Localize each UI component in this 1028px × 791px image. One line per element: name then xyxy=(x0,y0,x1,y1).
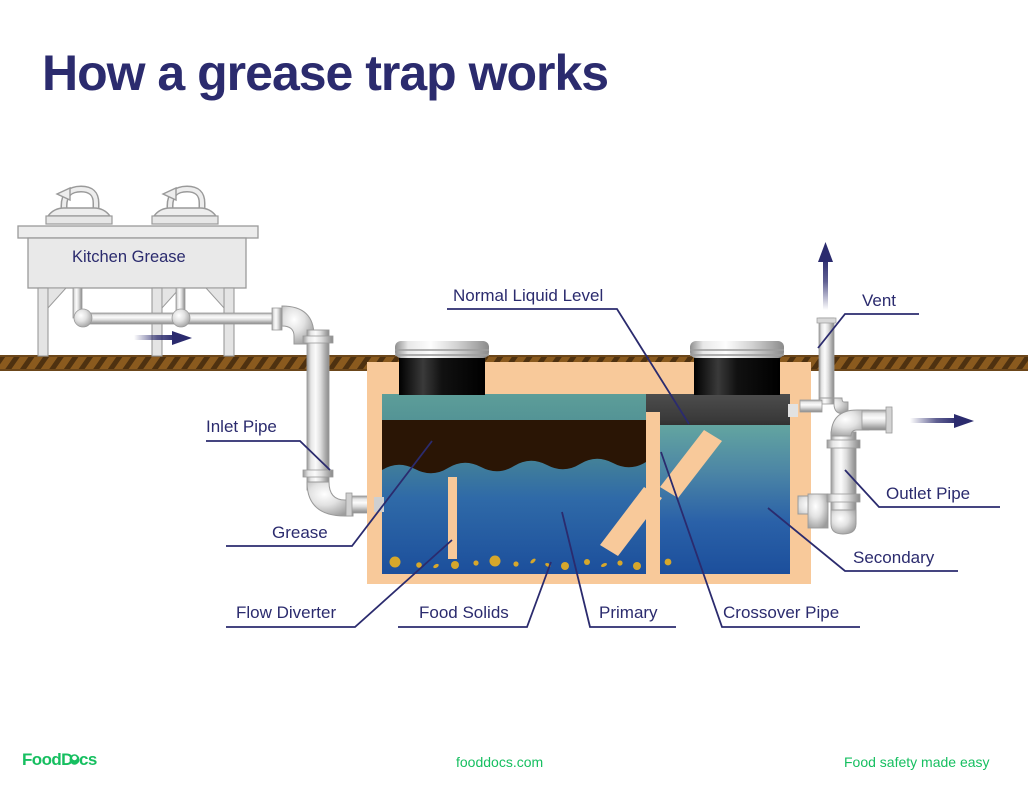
flow-arrow-inlet xyxy=(134,331,192,345)
manhole-riser-secondary xyxy=(690,341,784,395)
label-primary: Primary xyxy=(599,604,658,621)
manhole-riser-primary xyxy=(395,341,489,395)
svg-text:FoodD: FoodD xyxy=(22,750,73,769)
flow-diverter xyxy=(448,477,457,559)
inlet-pipe xyxy=(282,306,374,516)
fooddocs-logo: FoodD cs xyxy=(22,748,122,770)
label-secondary: Secondary xyxy=(853,549,934,566)
label-crossover-pipe: Crossover Pipe xyxy=(723,604,839,621)
sink-label: Kitchen Grease xyxy=(72,249,186,266)
grease-trap-tank xyxy=(367,362,811,584)
label-outlet-pipe: Outlet Pipe xyxy=(886,485,970,502)
label-inlet-pipe: Inlet Pipe xyxy=(206,418,277,435)
footer-tagline: Food safety made easy xyxy=(844,754,990,770)
label-flow-diverter: Flow Diverter xyxy=(236,604,336,621)
dividing-wall xyxy=(646,412,660,574)
vent-arrow xyxy=(818,242,833,310)
flow-arrow-outlet xyxy=(910,414,974,428)
label-food-solids: Food Solids xyxy=(419,604,509,621)
svg-text:cs: cs xyxy=(79,750,97,769)
faucet-icon xyxy=(46,188,112,224)
label-vent: Vent xyxy=(862,292,896,309)
faucet-icon xyxy=(152,188,218,224)
diagram-canvas: How a grease trap works xyxy=(0,0,1028,791)
label-normal-liquid-level: Normal Liquid Level xyxy=(453,287,603,304)
footer-website[interactable]: fooddocs.com xyxy=(456,754,543,770)
label-grease: Grease xyxy=(272,524,328,541)
kitchen-sink xyxy=(18,188,296,356)
grease-trap-illustration xyxy=(0,0,1028,791)
